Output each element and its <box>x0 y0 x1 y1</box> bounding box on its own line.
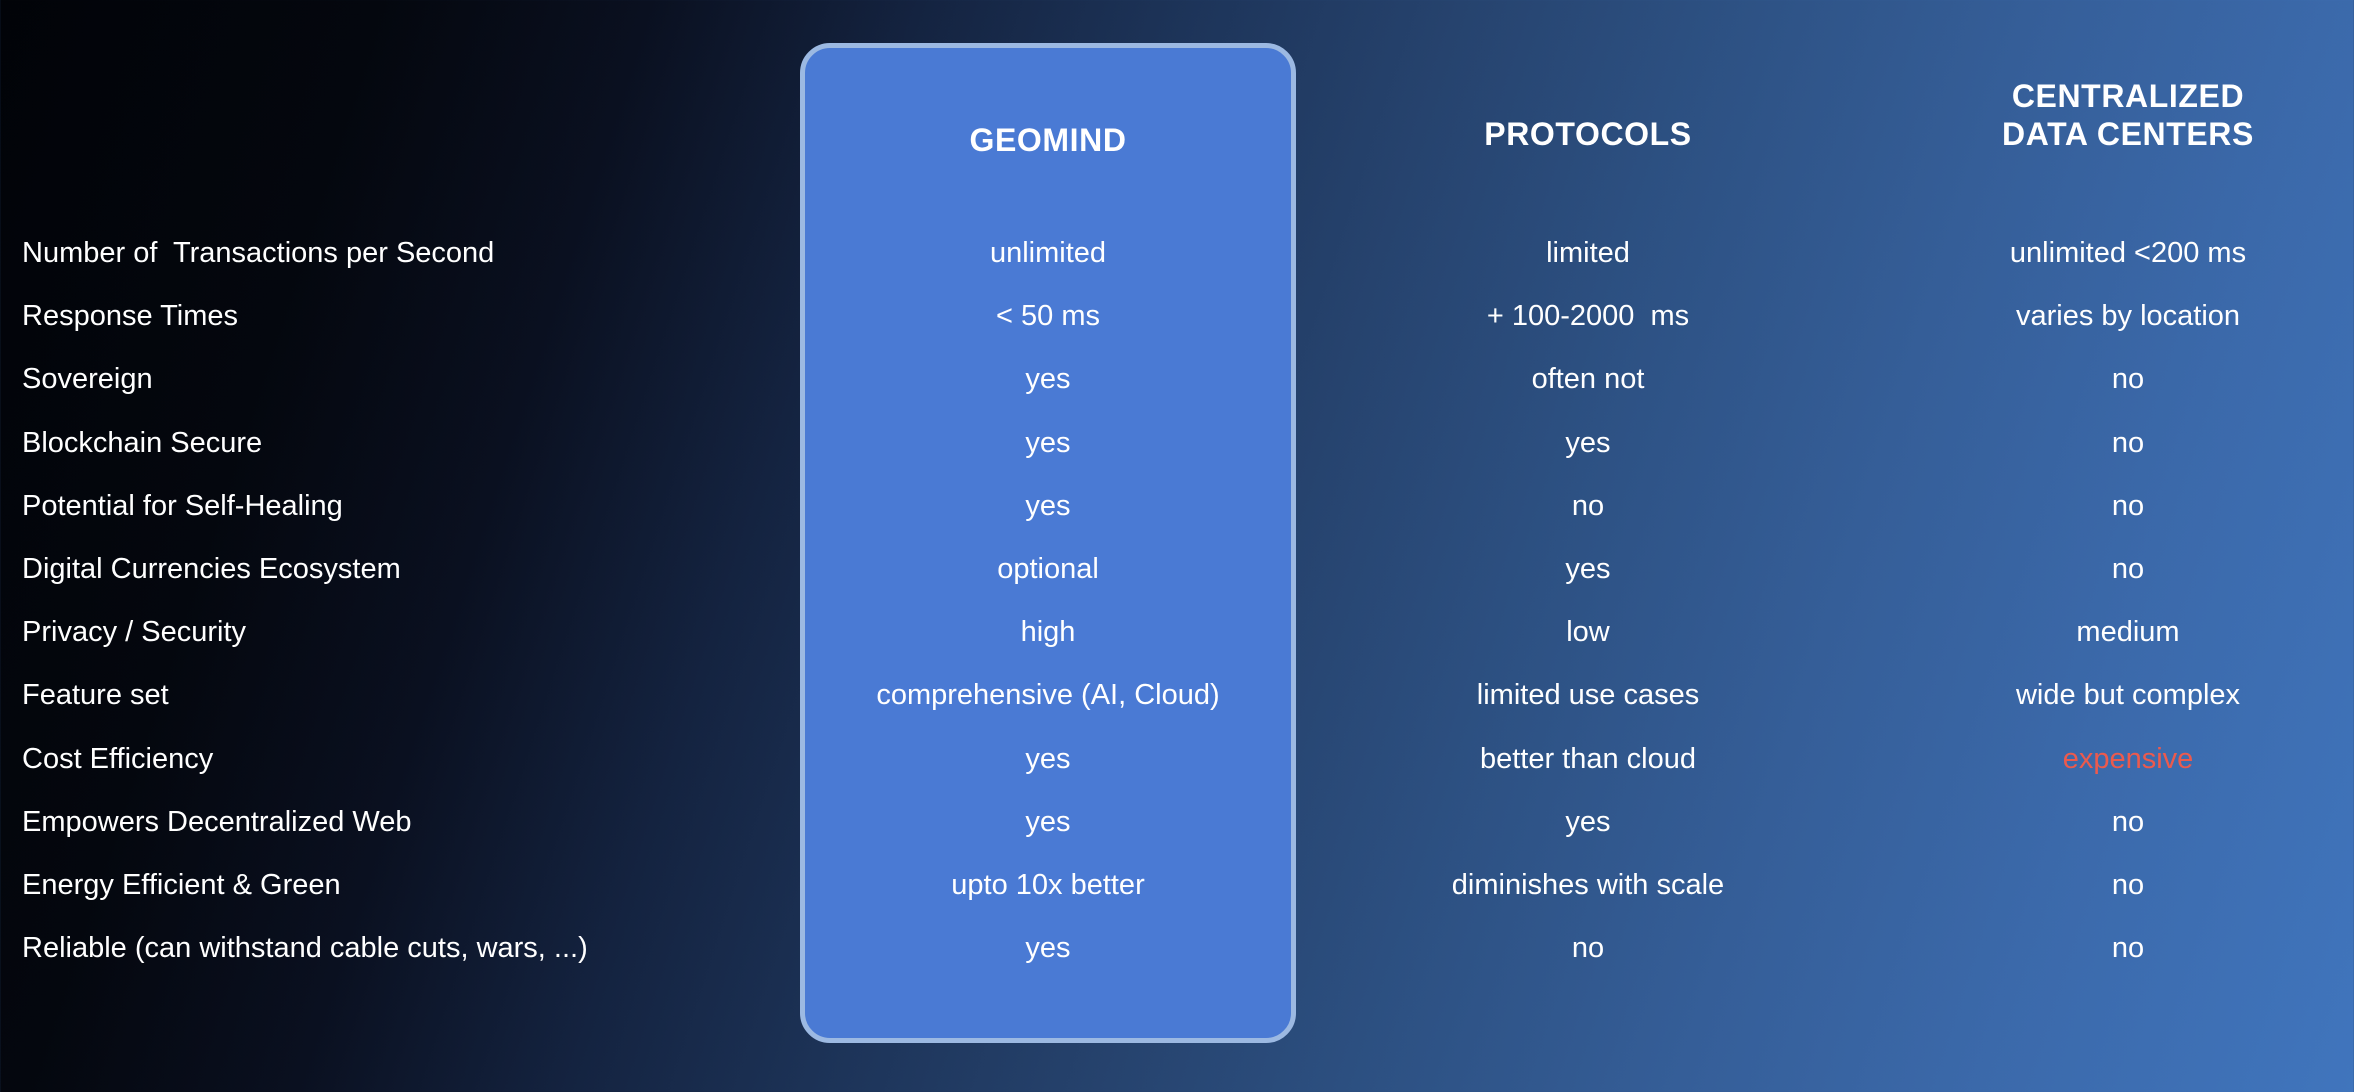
cell-datacenters: no <box>1880 925 2354 971</box>
cell-datacenters: no <box>1880 546 2354 592</box>
cell-protocols: yes <box>1340 546 1836 592</box>
row-label: Sovereign <box>22 356 782 402</box>
cell-datacenters: unlimited <200 ms <box>1880 230 2354 276</box>
table-row: Energy Efficient & Greenupto 10x betterd… <box>0 862 2354 908</box>
cell-geomind: unlimited <box>800 230 1296 276</box>
column-header-protocols: PROTOCOLS <box>1340 116 1836 154</box>
row-label: Cost Efficiency <box>22 736 782 782</box>
cell-geomind: yes <box>800 799 1296 845</box>
cell-geomind: yes <box>800 356 1296 402</box>
table-row: Response Times< 50 ms+ 100-2000 msvaries… <box>0 293 2354 339</box>
cell-datacenters: varies by location <box>1880 293 2354 339</box>
cell-protocols: no <box>1340 483 1836 529</box>
cell-datacenters: wide but complex <box>1880 672 2354 718</box>
cell-protocols: no <box>1340 925 1836 971</box>
cell-geomind: upto 10x better <box>800 862 1296 908</box>
cell-protocols: yes <box>1340 420 1836 466</box>
table-row: Blockchain Secureyesyesno <box>0 420 2354 466</box>
cell-geomind: optional <box>800 546 1296 592</box>
cell-protocols: often not <box>1340 356 1836 402</box>
cell-geomind: yes <box>800 420 1296 466</box>
cell-protocols: low <box>1340 609 1836 655</box>
table-row: Potential for Self-Healingyesnono <box>0 483 2354 529</box>
table-row: Number of Transactions per Secondunlimit… <box>0 230 2354 276</box>
cell-datacenters: no <box>1880 862 2354 908</box>
cell-datacenters: no <box>1880 356 2354 402</box>
comparison-table: GEOMIND PROTOCOLS CENTRALIZED DATA CENTE… <box>0 0 2354 1092</box>
row-label: Digital Currencies Ecosystem <box>22 546 782 592</box>
column-header-centralized-data-centers: CENTRALIZED DATA CENTERS <box>1880 78 2354 154</box>
cell-protocols: + 100-2000 ms <box>1340 293 1836 339</box>
cell-protocols: limited use cases <box>1340 672 1836 718</box>
row-label: Blockchain Secure <box>22 420 782 466</box>
row-label: Reliable (can withstand cable cuts, wars… <box>22 925 782 971</box>
column-header-line-2: DATA CENTERS <box>1880 116 2354 154</box>
cell-protocols: yes <box>1340 799 1836 845</box>
row-label: Empowers Decentralized Web <box>22 799 782 845</box>
row-label: Number of Transactions per Second <box>22 230 782 276</box>
row-label: Response Times <box>22 293 782 339</box>
cell-geomind: yes <box>800 925 1296 971</box>
cell-geomind: high <box>800 609 1296 655</box>
cell-datacenters: no <box>1880 483 2354 529</box>
table-row: Privacy / Securityhighlowmedium <box>0 609 2354 655</box>
row-label: Privacy / Security <box>22 609 782 655</box>
cell-geomind: yes <box>800 483 1296 529</box>
cell-protocols: diminishes with scale <box>1340 862 1836 908</box>
cell-geomind: comprehensive (AI, Cloud) <box>800 672 1296 718</box>
table-row: Digital Currencies Ecosystemoptionalyesn… <box>0 546 2354 592</box>
cell-protocols: limited <box>1340 230 1836 276</box>
table-row: Reliable (can withstand cable cuts, wars… <box>0 925 2354 971</box>
cell-datacenters: medium <box>1880 609 2354 655</box>
cell-datacenters: no <box>1880 799 2354 845</box>
table-row: Feature setcomprehensive (AI, Cloud)limi… <box>0 672 2354 718</box>
row-label: Feature set <box>22 672 782 718</box>
cell-geomind: yes <box>800 736 1296 782</box>
cell-geomind: < 50 ms <box>800 293 1296 339</box>
table-row: Cost Efficiencyyesbetter than cloudexpen… <box>0 736 2354 782</box>
cell-datacenters: no <box>1880 420 2354 466</box>
column-header-geomind: GEOMIND <box>800 122 1296 160</box>
row-label: Energy Efficient & Green <box>22 862 782 908</box>
cell-datacenters: expensive <box>1880 736 2354 782</box>
row-label: Potential for Self-Healing <box>22 483 782 529</box>
table-row: Sovereignyesoften notno <box>0 356 2354 402</box>
cell-protocols: better than cloud <box>1340 736 1836 782</box>
table-row: Empowers Decentralized Webyesyesno <box>0 799 2354 845</box>
column-header-line-1: CENTRALIZED <box>1880 78 2354 116</box>
